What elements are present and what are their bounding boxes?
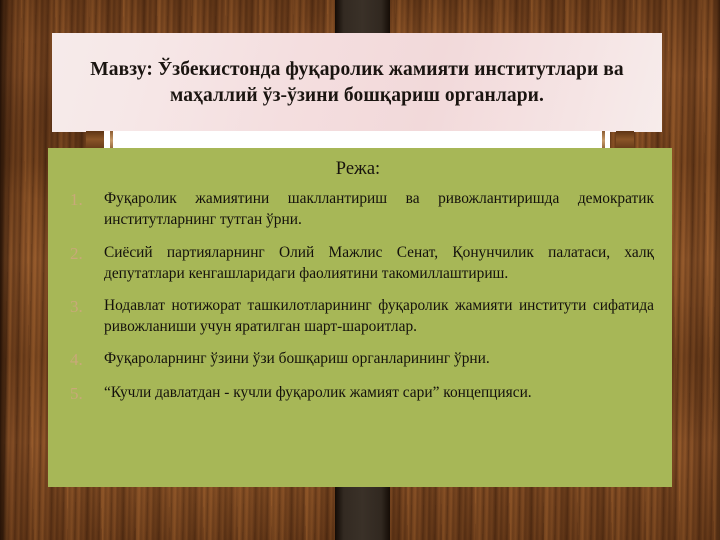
list-item-text: Фуқаролик жамиятини шакллантириш ва риво…	[104, 188, 654, 230]
presentation-slide: Мавзу: Ўзбекистонда фуқаролик жамияти ин…	[0, 0, 720, 540]
plan-heading: Режа:	[62, 159, 654, 179]
list-item-text: Сиёсий партияларнинг Олий Мажлис Сенат, …	[104, 242, 654, 284]
list-item: 4. Фуқароларнинг ўзини ўзи бошқариш орга…	[62, 348, 654, 371]
list-item-number: 4.	[62, 348, 104, 371]
slide-title: Мавзу: Ўзбекистонда фуқаролик жамияти ин…	[68, 57, 646, 109]
list-item: 2. Сиёсий партияларнинг Олий Мажлис Сена…	[62, 242, 654, 284]
list-item: 3. Нодавлат нотижорат ташкилотларининг ф…	[62, 295, 654, 337]
wood-left-edge-shadow	[0, 0, 10, 540]
list-item-text: Нодавлат нотижорат ташкилотларининг фуқа…	[104, 295, 654, 337]
list-item: 5. “Кучли давлатдан - кучли фуқаролик жа…	[62, 382, 654, 405]
list-item-number: 1.	[62, 188, 104, 211]
wood-right-edge-shadow	[712, 0, 720, 540]
list-item: 1. Фуқаролик жамиятини шакллантириш ва р…	[62, 188, 654, 230]
plan-list: 1. Фуқаролик жамиятини шакллантириш ва р…	[62, 188, 654, 405]
list-item-number: 3.	[62, 295, 104, 318]
list-item-text: “Кучли давлатдан - кучли фуқаролик жамия…	[104, 382, 654, 403]
title-panel: Мавзу: Ўзбекистонда фуқаролик жамияти ин…	[52, 33, 662, 132]
list-item-text: Фуқароларнинг ўзини ўзи бошқариш органла…	[104, 348, 654, 369]
content-panel: Режа: 1. Фуқаролик жамиятини шакллантири…	[48, 148, 672, 487]
list-item-number: 2.	[62, 242, 104, 265]
list-item-number: 5.	[62, 382, 104, 405]
